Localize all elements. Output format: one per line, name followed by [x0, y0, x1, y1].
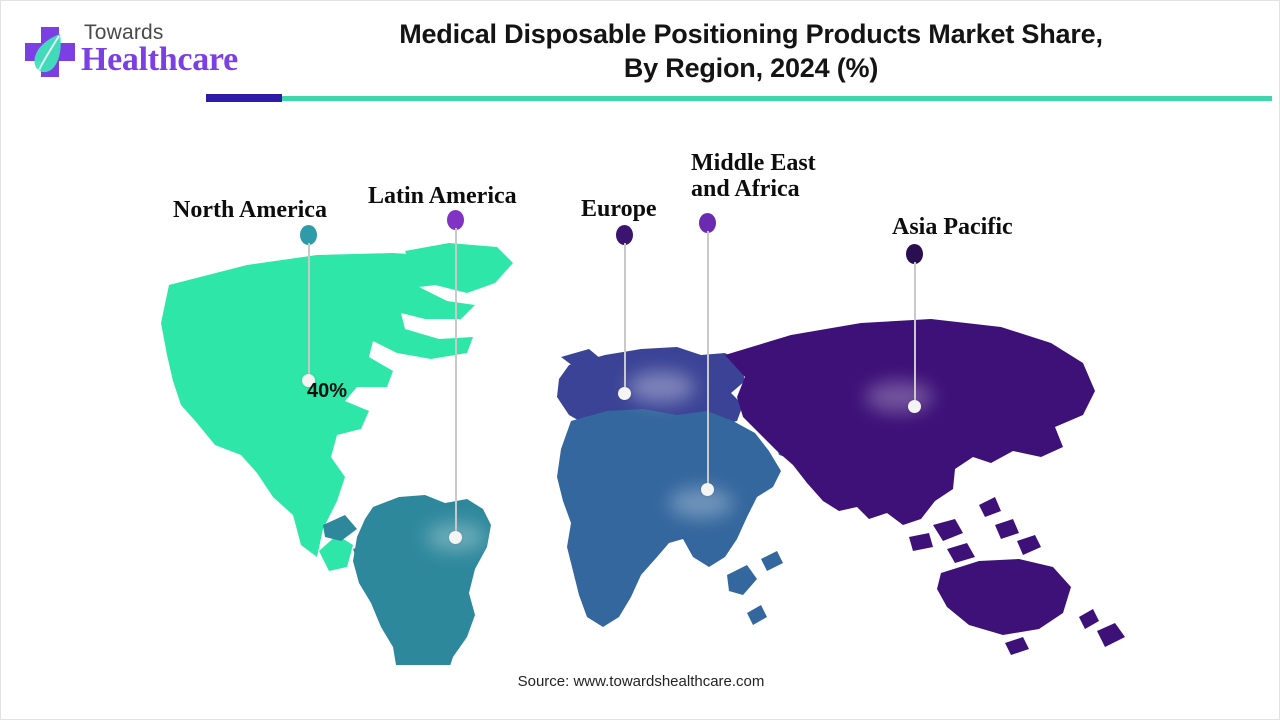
region-label-latin-america: Latin America	[368, 183, 517, 209]
brand-logo: Towards Healthcare	[19, 17, 249, 89]
chart-title-line1: Medical Disposable Positioning Products …	[301, 17, 1201, 51]
region-label-north-america: North America	[173, 197, 327, 223]
brand-logo-line2: Healthcare	[81, 41, 238, 79]
pin-end-dot	[908, 400, 921, 413]
pin-stem	[914, 262, 916, 400]
accent-bar-dark	[206, 94, 282, 102]
source-footer: Source: www.towardshealthcare.com	[1, 673, 1280, 690]
pin-end-dot	[701, 483, 714, 496]
region-label-mea-line2: and Africa	[691, 176, 816, 202]
pin-stem	[308, 243, 310, 374]
pin-icon-latin-america	[447, 210, 464, 230]
region-label-europe: Europe	[581, 196, 657, 222]
pin-icon-europe	[616, 225, 633, 245]
world-map-svg	[1, 105, 1280, 665]
medical-cross-leaf-logo-icon	[19, 21, 81, 83]
region-value-north-america: 40%	[307, 380, 347, 403]
pin-icon-middle-east-and-africa	[699, 213, 716, 233]
header: Towards Healthcare Medical Disposable Po…	[1, 1, 1280, 105]
chart-title-line2: By Region, 2024 (%)	[301, 51, 1201, 85]
map-region-asia-pacific[interactable]	[725, 319, 1125, 655]
source-text: Source: www.towardshealthcare.com	[518, 673, 765, 690]
region-label-mea-line1: Middle East	[691, 150, 816, 176]
brand-logo-text: Towards Healthcare	[81, 19, 261, 85]
accent-bar-mint	[206, 96, 1272, 101]
region-label-asia-pacific: Asia Pacific	[892, 214, 1013, 240]
world-map: North America Latin America Europe Middl…	[1, 105, 1280, 665]
pin-end-dot	[618, 387, 631, 400]
pin-stem	[624, 243, 626, 387]
map-region-latin-america[interactable]	[323, 495, 491, 665]
pin-end-dot	[449, 531, 462, 544]
infographic-page: Towards Healthcare Medical Disposable Po…	[0, 0, 1280, 720]
pin-stem	[455, 228, 457, 531]
pin-stem	[707, 231, 709, 483]
pin-icon-asia-pacific	[906, 244, 923, 264]
title-accent-bar	[1, 94, 1280, 102]
region-label-middle-east-and-africa: Middle East and Africa	[691, 150, 816, 202]
pin-icon-north-america	[300, 225, 317, 245]
chart-title: Medical Disposable Positioning Products …	[301, 17, 1201, 85]
